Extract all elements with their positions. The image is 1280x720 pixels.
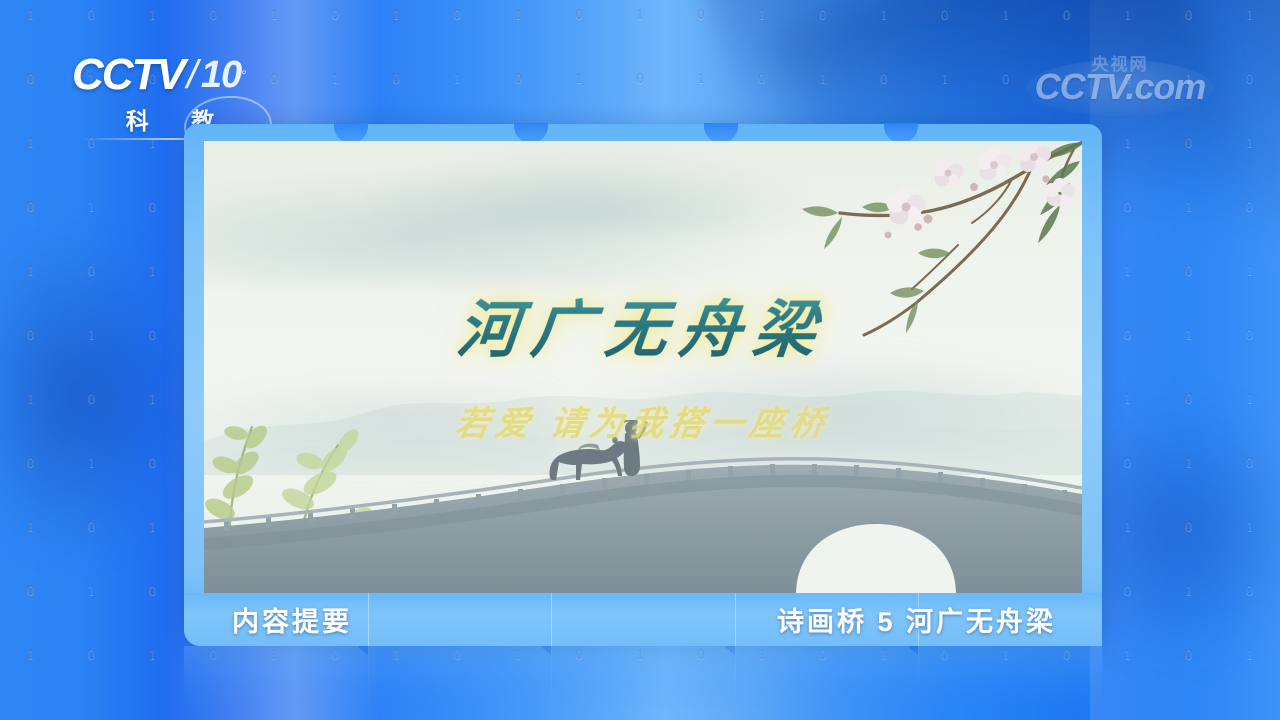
reflection-segment bbox=[918, 646, 1102, 720]
frame-notch bbox=[704, 123, 738, 143]
blossom-flower bbox=[1017, 141, 1051, 173]
logo-slash: / bbox=[187, 53, 198, 98]
panel-reflection bbox=[184, 646, 1102, 720]
cctv10-channel-logo: CCTV / 10 ° 科 教 bbox=[72, 52, 272, 134]
artwork-title: 河广无舟梁 bbox=[204, 279, 1082, 369]
logo-channel-number: 10 bbox=[201, 54, 241, 97]
watermark-text: CCTV.com bbox=[1020, 66, 1220, 108]
reflection-segment bbox=[735, 646, 919, 720]
artwork-backdrop: 河广无舟梁 若爱 请为我搭一座桥 bbox=[204, 141, 1082, 593]
video-content-area: 河广无舟梁 若爱 请为我搭一座桥 bbox=[204, 141, 1082, 593]
broadcast-screen: 1010101010101010101010101010101010101010… bbox=[0, 0, 1280, 720]
episode-title-label: 诗画桥 5 河广无舟梁 bbox=[184, 593, 1056, 646]
mist-layer bbox=[362, 150, 819, 231]
stone-bridge-illustration bbox=[204, 420, 1082, 593]
artwork-subtitle: 若爱 请为我搭一座桥 bbox=[204, 396, 1082, 445]
logo-degree-icon: ° bbox=[241, 67, 247, 83]
blossom-flower bbox=[887, 188, 926, 226]
reflection-segment bbox=[551, 646, 735, 720]
blossom-flower bbox=[933, 158, 964, 189]
reflection-segment bbox=[368, 646, 552, 720]
video-panel-frame: 河广无舟梁 若爱 请为我搭一座桥 内容提要 诗画桥 5 河广无舟梁 bbox=[184, 124, 1102, 646]
logo-cctv-text: CCTV bbox=[72, 52, 184, 98]
frame-notch bbox=[334, 123, 368, 143]
frame-notch bbox=[514, 123, 548, 143]
blossom-flower bbox=[977, 148, 1012, 182]
cctv-com-watermark: 央视网 CCTV.com bbox=[1020, 44, 1220, 122]
background-shadow-left bbox=[0, 230, 190, 560]
lower-caption-bar: 内容提要 诗画桥 5 河广无舟梁 bbox=[184, 593, 1102, 646]
frame-notch bbox=[884, 123, 918, 143]
reflection-segment bbox=[184, 646, 368, 720]
